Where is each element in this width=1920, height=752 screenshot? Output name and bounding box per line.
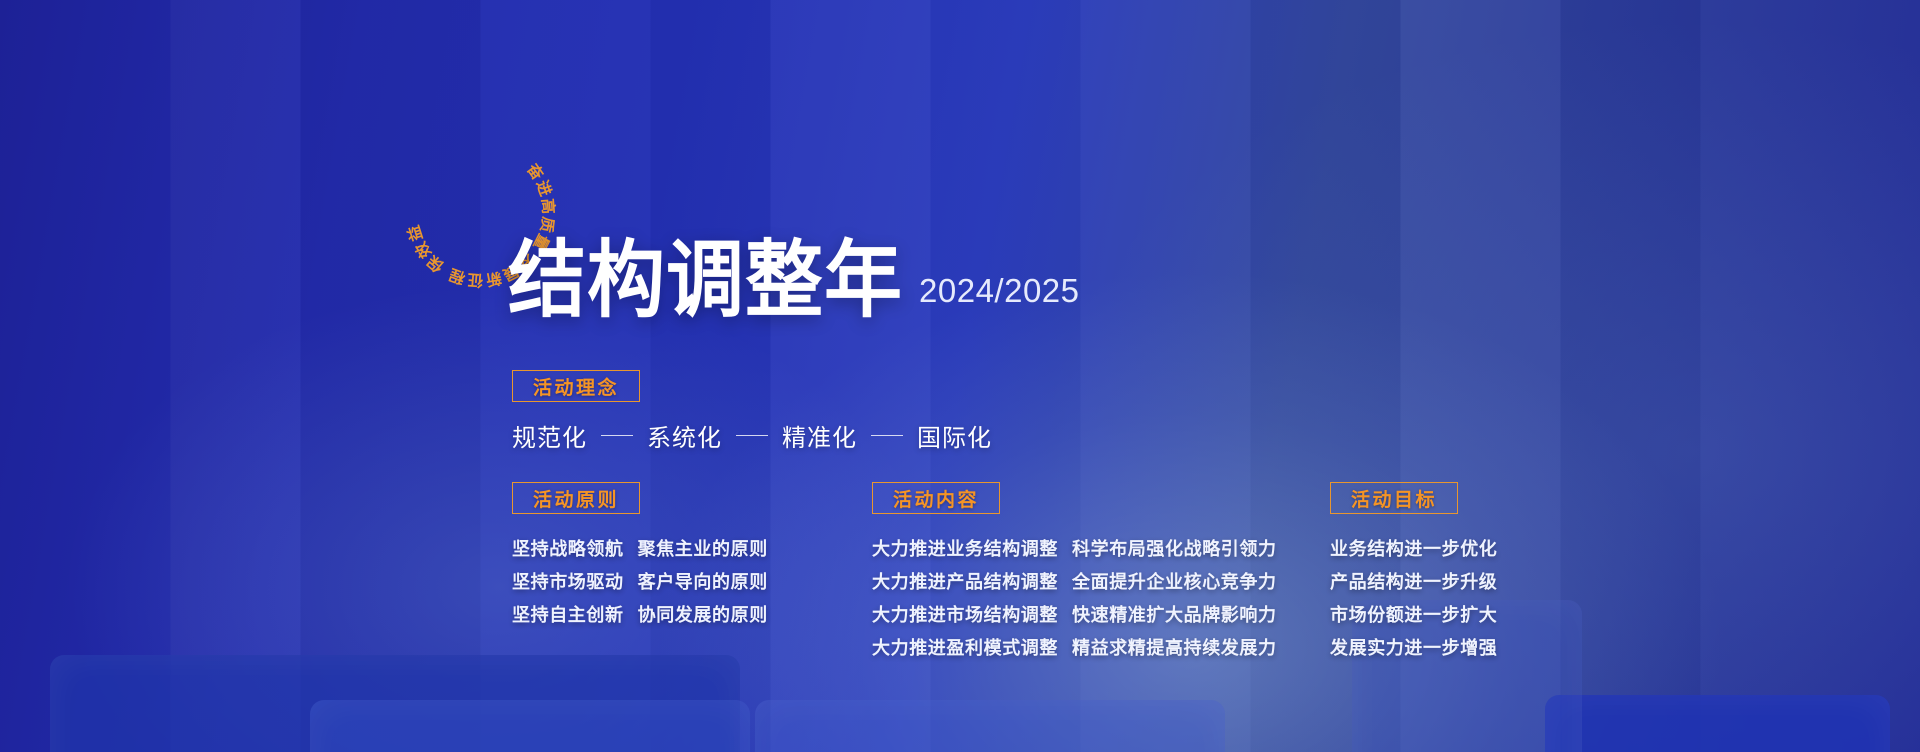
badge-activity-contents[interactable]: 活动内容 (872, 482, 1000, 514)
column-activity-contents: 活动内容 大力推进业务结构调整 科学布局强化战略引领力 大力推进产品结构调整 全… (872, 482, 1277, 663)
list-item-left: 大力推进产品结构调整 (872, 569, 1058, 597)
list-item-left: 坚持市场驱动 (512, 569, 624, 597)
list-item-left: 大力推进市场结构调整 (872, 602, 1058, 630)
page-title: 结构调整年 (508, 240, 903, 320)
principles-list: 坚持战略领航 聚焦主业的原则 坚持市场驱动 客户导向的原则 坚持自主创新 协同发… (512, 536, 768, 630)
list-item-left: 发展实力进一步增强 (1330, 635, 1497, 663)
concept-item: 国际化 (917, 418, 992, 453)
concept-item: 精准化 (782, 418, 857, 453)
list-item-right: 精益求精提高持续发展力 (1072, 635, 1277, 663)
list-item: 大力推进业务结构调整 科学布局强化战略引领力 (872, 536, 1277, 564)
list-item-left: 业务结构进一步优化 (1330, 536, 1497, 564)
list-item-left: 坚持战略领航 (512, 536, 624, 564)
list-item: 大力推进盈利模式调整 精益求精提高持续发展力 (872, 635, 1277, 663)
concept-divider-icon (601, 435, 633, 437)
concept-item: 系统化 (647, 418, 722, 453)
badge-activity-goals[interactable]: 活动目标 (1330, 482, 1458, 514)
concept-divider-icon (736, 435, 768, 437)
column-activity-goals: 活动目标 业务结构进一步优化 产品结构进一步升级 市场份额进一步扩大 发展实力进… (1330, 482, 1497, 663)
list-item-left: 市场份额进一步扩大 (1330, 602, 1497, 630)
list-item-right: 客户导向的原则 (638, 569, 768, 597)
list-item-right: 科学布局强化战略引领力 (1072, 536, 1277, 564)
list-item: 产品结构进一步升级 (1330, 569, 1497, 597)
column-activity-principles: 活动原则 坚持战略领航 聚焦主业的原则 坚持市场驱动 客户导向的原则 坚持自主创… (512, 482, 768, 630)
list-item: 坚持市场驱动 客户导向的原则 (512, 569, 768, 597)
list-item: 大力推进产品结构调整 全面提升企业核心竞争力 (872, 569, 1277, 597)
list-item: 市场份额进一步扩大 (1330, 602, 1497, 630)
list-item-left: 大力推进业务结构调整 (872, 536, 1058, 564)
list-item-left: 大力推进盈利模式调整 (872, 635, 1058, 663)
list-item-right: 快速精准扩大品牌影响力 (1072, 602, 1277, 630)
campaign-banner: 奋进高质量 发展新征程 保效益 促转型 增动能 结构调整年 2024/2025 … (0, 0, 1920, 752)
list-item: 坚持自主创新 协同发展的原则 (512, 602, 768, 630)
list-item: 坚持战略领航 聚焦主业的原则 (512, 536, 768, 564)
list-item-left: 产品结构进一步升级 (1330, 569, 1497, 597)
concept-divider-icon (871, 435, 903, 437)
list-item-left: 坚持自主创新 (512, 602, 624, 630)
list-item-right: 聚焦主业的原则 (638, 536, 768, 564)
title-row: 结构调整年 2024/2025 (508, 246, 1080, 320)
title-year: 2024/2025 (919, 272, 1080, 320)
list-item: 大力推进市场结构调整 快速精准扩大品牌影响力 (872, 602, 1277, 630)
badge-activity-principles[interactable]: 活动原则 (512, 482, 640, 514)
concept-item: 规范化 (512, 418, 587, 453)
contents-list: 大力推进业务结构调整 科学布局强化战略引领力 大力推进产品结构调整 全面提升企业… (872, 536, 1277, 663)
list-item-right: 协同发展的原则 (638, 602, 768, 630)
list-item: 发展实力进一步增强 (1330, 635, 1497, 663)
concept-item-row: 规范化 系统化 精准化 国际化 (512, 418, 992, 453)
list-item: 业务结构进一步优化 (1330, 536, 1497, 564)
goals-list: 业务结构进一步优化 产品结构进一步升级 市场份额进一步扩大 发展实力进一步增强 (1330, 536, 1497, 663)
list-item-right: 全面提升企业核心竞争力 (1072, 569, 1277, 597)
badge-activity-concept[interactable]: 活动理念 (512, 370, 640, 402)
